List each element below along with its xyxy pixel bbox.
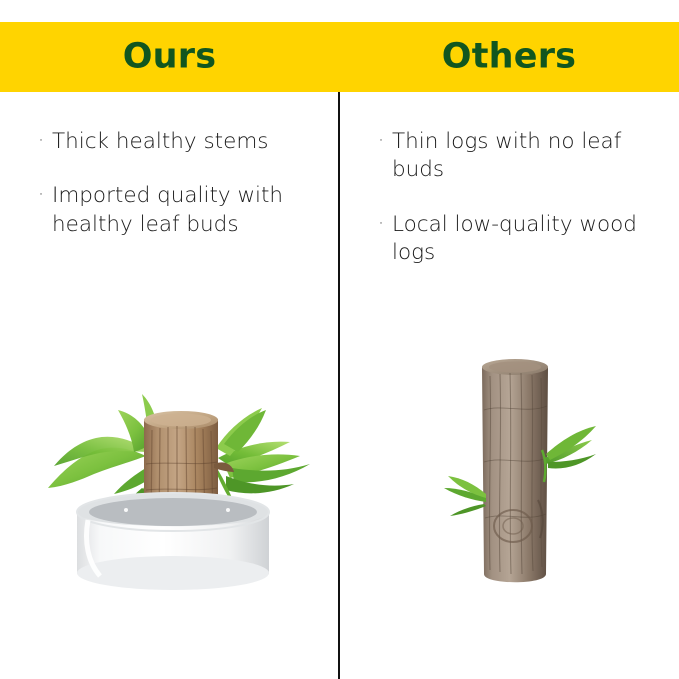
others-feature-list: · Thin logs with no leaf buds · Local lo… — [378, 128, 666, 294]
list-item-label: Thick healthy stems — [52, 128, 328, 156]
ours-feature-list: · Thick healthy stems · Imported quality… — [38, 128, 328, 265]
ours-product-image — [18, 360, 328, 610]
list-item: · Imported quality with healthy leaf bud… — [38, 182, 328, 239]
bullet-dot-icon: · — [378, 128, 391, 153]
header-band: Ours Others — [0, 22, 679, 92]
others-product-image — [420, 340, 640, 605]
column-divider — [338, 92, 340, 679]
comparison-infographic: Ours Others · Thick healthy stems · Impo… — [0, 0, 679, 679]
header-title-others: Others — [339, 40, 679, 75]
thin-wood-log — [482, 359, 548, 582]
list-item: · Thick healthy stems — [38, 128, 328, 156]
leaf-cluster-right — [216, 408, 310, 508]
header-title-ours: Ours — [0, 40, 339, 75]
sprout-right — [542, 426, 596, 482]
white-ceramic-pot — [77, 493, 269, 590]
bullet-dot-icon: · — [38, 182, 51, 207]
bullet-dot-icon: · — [378, 211, 391, 236]
list-item: · Local low-quality wood logs — [378, 211, 666, 268]
list-item-label: Local low-quality wood logs — [392, 211, 666, 268]
bullet-dot-icon: · — [38, 128, 51, 153]
list-item-label: Imported quality with healthy leaf buds — [52, 182, 328, 239]
list-item-label: Thin logs with no leaf buds — [392, 128, 666, 185]
sprout-left — [444, 476, 486, 516]
list-item: · Thin logs with no leaf buds — [378, 128, 666, 185]
